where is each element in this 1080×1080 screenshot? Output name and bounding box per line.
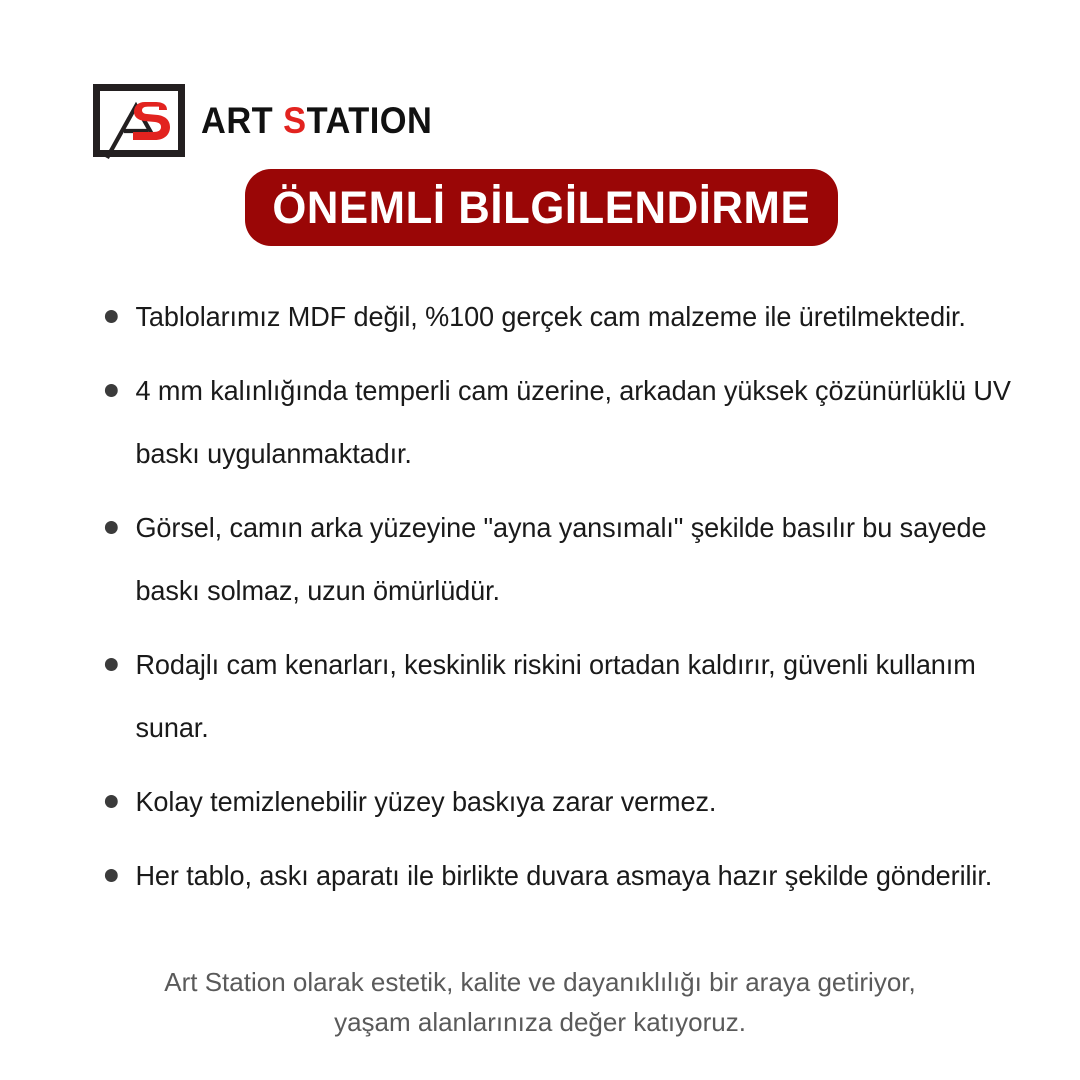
bullet-dot-icon	[105, 384, 118, 397]
bullet-dot-icon	[105, 869, 118, 882]
footer-tagline: Art Station olarak estetik, kalite ve da…	[0, 962, 1080, 1042]
bullet-dot-icon	[105, 795, 118, 808]
wordmark-part-2: TATION	[307, 100, 433, 141]
wordmark-part-1: ART	[201, 100, 283, 141]
list-item-text: Rodajlı cam kenarları, keskinlik riskini…	[135, 649, 975, 743]
wordmark-accent-letter: S	[283, 100, 306, 141]
brand-header: ART STATION	[93, 82, 450, 158]
footer-line-1: Art Station olarak estetik, kalite ve da…	[0, 962, 1080, 1002]
banner-title-text: ÖNEMLİ BİLGİLENDİRME	[273, 185, 811, 230]
list-item: Kolay temizlenebilir yüzey baskıya zarar…	[100, 770, 1016, 833]
list-item-text: 4 mm kalınlığında temperli cam üzerine, …	[135, 375, 1010, 469]
info-bullet-list: Tablolarımız MDF değil, %100 gerçek cam …	[100, 285, 1030, 918]
info-card: ART STATION ÖNEMLİ BİLGİLENDİRME Tablola…	[0, 0, 1080, 1080]
list-item: Rodajlı cam kenarları, keskinlik riskini…	[100, 633, 1016, 759]
list-item: 4 mm kalınlığında temperli cam üzerine, …	[100, 359, 1016, 485]
list-item: Görsel, camın arka yüzeyine "ayna yansım…	[100, 496, 1016, 622]
brand-wordmark: ART STATION	[201, 102, 432, 139]
title-banner: ÖNEMLİ BİLGİLENDİRME	[245, 169, 838, 246]
footer-line-2: yaşam alanlarınıza değer katıyoruz.	[0, 1002, 1080, 1042]
list-item-text: Kolay temizlenebilir yüzey baskıya zarar…	[135, 786, 716, 817]
bullet-dot-icon	[105, 521, 118, 534]
list-item: Tablolarımız MDF değil, %100 gerçek cam …	[100, 285, 1016, 348]
art-station-monogram-as-icon	[93, 84, 185, 157]
bullet-dot-icon	[105, 310, 118, 323]
list-item-text: Tablolarımız MDF değil, %100 gerçek cam …	[135, 301, 965, 332]
list-item-text: Her tablo, askı aparatı ile birlikte duv…	[135, 860, 992, 891]
list-item-text: Görsel, camın arka yüzeyine "ayna yansım…	[135, 512, 986, 606]
list-item: Her tablo, askı aparatı ile birlikte duv…	[100, 844, 1016, 907]
bullet-dot-icon	[105, 658, 118, 671]
